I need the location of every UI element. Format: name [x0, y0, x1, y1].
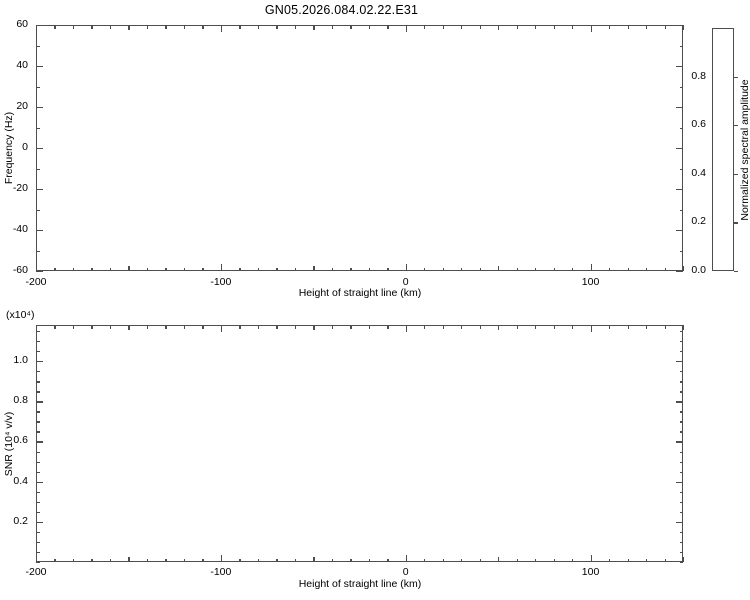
colorbar-tick — [734, 174, 738, 175]
spectrogram-x-tick-label: 100 — [582, 276, 600, 288]
spectrogram-x-tick-label: -200 — [25, 276, 46, 288]
snr-x-axis-label: Height of straight line (km) — [299, 578, 422, 590]
colorbar-tick — [734, 222, 738, 223]
snr-exponent-label: (x10⁴) — [6, 309, 34, 321]
snr-x-tick-label: 0 — [403, 566, 409, 578]
spectrogram-y-axis-label: Frequency (Hz) — [3, 112, 15, 184]
colorbar-frame — [712, 28, 734, 271]
spectrogram-axes — [36, 25, 683, 271]
colorbar-tick — [734, 125, 738, 126]
colorbar-tick — [734, 77, 738, 78]
snr-x-tick-label: -200 — [25, 566, 46, 578]
colorbar-tick — [734, 271, 738, 272]
snr-x-tick-label: -100 — [210, 566, 231, 578]
spectrogram-x-tick-label: -100 — [210, 276, 231, 288]
snr-x-tick-label: 100 — [582, 566, 600, 578]
colorbar-label: Normalized spectral amplitude — [739, 79, 750, 220]
snr-axes — [36, 325, 683, 562]
page-title: GN05.2026.084.02.22.E31 — [0, 3, 683, 17]
spectrogram-x-axis-label: Height of straight line (km) — [299, 287, 422, 299]
figure-canvas: GN05.2026.084.02.22.E31 -200-1000100-60-… — [0, 0, 750, 600]
snr-y-axis-label: SNR (10⁴ v/v) — [3, 412, 15, 477]
